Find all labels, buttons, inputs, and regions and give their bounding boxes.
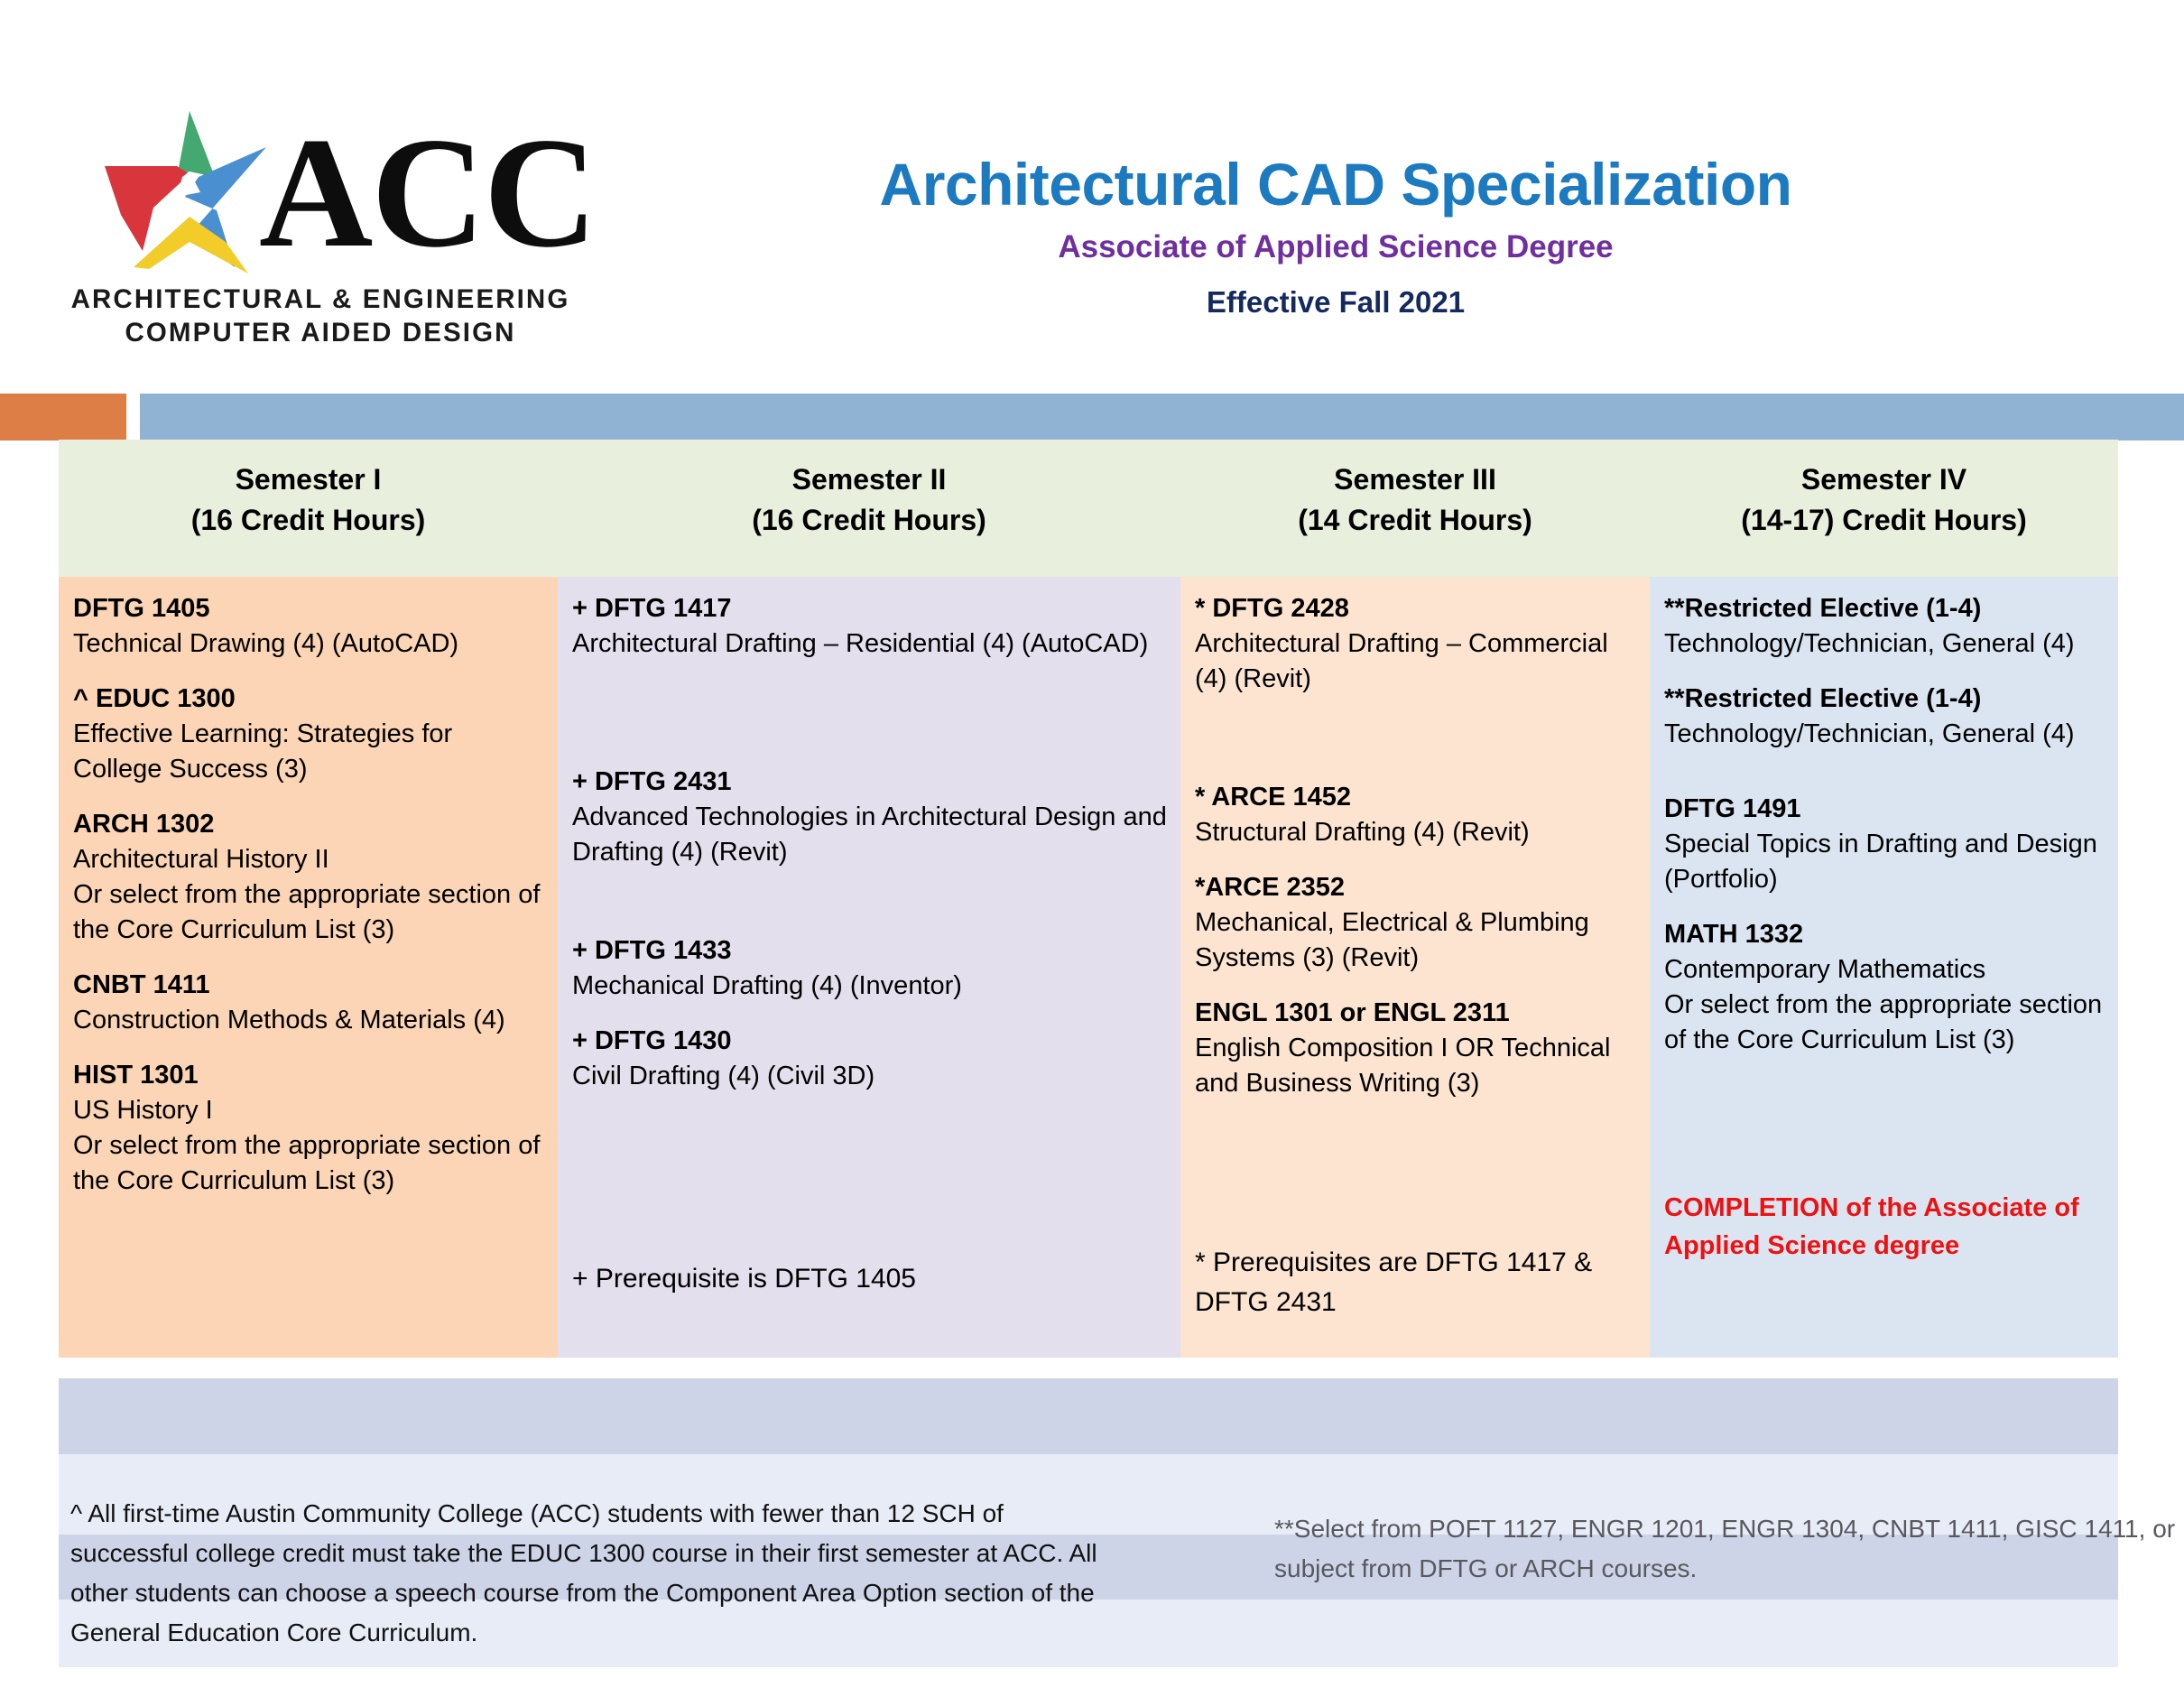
orange-accent-bar — [0, 394, 126, 441]
semester-name: Semester IV — [1801, 459, 1967, 500]
acc-tagline-line1: ARCHITECTURAL & ENGINEERING — [50, 284, 591, 315]
spacer — [73, 1038, 545, 1058]
spacer — [1195, 697, 1637, 760]
course-desc: Structural Drafting (4) (Revit) — [1195, 815, 1637, 850]
spacer — [1664, 752, 2105, 792]
course-entry: ^ EDUC 1300 Effective Learning: Strategi… — [73, 682, 545, 787]
column-header-semester-4: Semester IV (14-17) Credit Hours) — [1650, 440, 2118, 577]
course-entry: **Restricted Elective (1-4) Technology/T… — [1664, 682, 2105, 752]
course-entry: + DFTG 1430 Civil Drafting (4) (Civil 3D… — [572, 1024, 1168, 1094]
course-code: DFTG 1491 — [1664, 792, 2105, 827]
course-code: ENGL 1301 or ENGL 2311 — [1195, 996, 1637, 1031]
course-code: CNBT 1411 — [73, 968, 545, 1003]
course-code: * DFTG 2428 — [1195, 591, 1637, 626]
course-code: *ARCE 2352 — [1195, 870, 1637, 905]
course-desc: Construction Methods & Materials (4) — [73, 1003, 545, 1038]
column-body-semester-2: + DFTG 1417 Architectural Drafting – Res… — [558, 577, 1180, 1358]
course-desc: Architectural Drafting – Commercial (4) … — [1195, 626, 1637, 697]
column-header-semester-3: Semester III (14 Credit Hours) — [1180, 440, 1650, 577]
semester-name: Semester III — [1334, 459, 1496, 500]
course-entry: ENGL 1301 or ENGL 2311 English Compositi… — [1195, 996, 1637, 1101]
spacer — [73, 948, 545, 968]
spacer — [1195, 976, 1637, 996]
column-body-semester-1: DFTG 1405 Technical Drawing (4) (AutoCAD… — [59, 577, 558, 1358]
semester-hours: (14-17) Credit Hours) — [1741, 500, 2027, 541]
semester-hours: (14 Credit Hours) — [1298, 500, 1532, 541]
course-code: + DFTG 1417 — [572, 591, 1168, 626]
column-body-semester-4: **Restricted Elective (1-4) Technology/T… — [1650, 577, 2118, 1358]
semester-name: Semester II — [792, 459, 947, 500]
column-header-semester-2: Semester II (16 Credit Hours) — [558, 440, 1180, 577]
course-desc: Mechanical Drafting (4) (Inventor) — [572, 969, 1168, 1004]
course-desc: Mechanical, Electrical & Plumbing System… — [1195, 905, 1637, 976]
footnote-restricted-elective: **Select from POFT 1127, ENGR 1201, ENGR… — [1274, 1509, 2177, 1589]
page-header: ACC ARCHITECTURAL & ENGINEERING COMPUTER… — [0, 0, 2184, 379]
course-desc: Technology/Technician, General (4) — [1664, 717, 2105, 752]
completion-note: COMPLETION of the Associate of Applied S… — [1664, 1189, 2086, 1265]
course-desc: Effective Learning: Strategies for Colle… — [73, 717, 545, 787]
prerequisite-note-semester-3: * Prerequisites are DFTG 1417 & DFTG 243… — [1195, 1243, 1636, 1322]
semester-hours: (16 Credit Hours) — [191, 500, 426, 541]
column-body-semester-3: * DFTG 2428 Architectural Drafting – Com… — [1180, 577, 1650, 1358]
spacer — [1664, 662, 2105, 682]
course-entry: *ARCE 2352 Mechanical, Electrical & Plum… — [1195, 870, 1637, 976]
course-entry: ARCH 1302 Architectural History IIOr sel… — [73, 807, 545, 948]
course-code: ARCH 1302 — [73, 807, 545, 842]
spacer — [73, 662, 545, 682]
course-entry: * ARCE 1452 Structural Drafting (4) (Rev… — [1195, 780, 1637, 850]
acc-acronym: ACC — [259, 114, 596, 272]
semester-name: Semester I — [236, 459, 382, 500]
spacer — [73, 787, 545, 807]
course-code: * ARCE 1452 — [1195, 780, 1637, 815]
page-subtitle: Associate of Applied Science Degree — [632, 229, 2040, 265]
course-entry: + DFTG 1433 Mechanical Drafting (4) (Inv… — [572, 933, 1168, 1004]
spacer — [572, 725, 1168, 765]
acc-logo: ACC ARCHITECTURAL & ENGINEERING COMPUTER… — [50, 107, 591, 341]
spacer — [1195, 760, 1637, 780]
course-entry: * DFTG 2428 Architectural Drafting – Com… — [1195, 591, 1637, 697]
course-code: + DFTG 1433 — [572, 933, 1168, 969]
course-entry: HIST 1301 US History IOr select from the… — [73, 1058, 545, 1199]
course-desc: Advanced Technologies in Architectural D… — [572, 800, 1168, 870]
blue-accent-bar — [140, 394, 2184, 441]
course-desc: Architectural Drafting – Residential (4)… — [572, 626, 1168, 662]
course-entry: DFTG 1405 Technical Drawing (4) (AutoCAD… — [73, 591, 545, 662]
course-code: DFTG 1405 — [73, 591, 545, 626]
course-code: MATH 1332 — [1664, 917, 2105, 952]
course-code: **Restricted Elective (1-4) — [1664, 591, 2105, 626]
title-block: Architectural CAD Specialization Associa… — [632, 0, 2040, 320]
footnote-educ-requirement: ^ All first-time Austin Community Colleg… — [70, 1494, 1108, 1653]
course-entry: CNBT 1411 Construction Methods & Materia… — [73, 968, 545, 1038]
spacer — [572, 1004, 1168, 1024]
bottom-band-dark — [59, 1378, 2118, 1454]
course-desc: Technical Drawing (4) (AutoCAD) — [73, 626, 545, 662]
table-body-row: DFTG 1405 Technical Drawing (4) (AutoCAD… — [59, 577, 2118, 1358]
prerequisite-note-semester-2: + Prerequisite is DFTG 1405 — [572, 1259, 1158, 1299]
course-code: HIST 1301 — [73, 1058, 545, 1093]
course-entry: MATH 1332 Contemporary MathematicsOr sel… — [1664, 917, 2105, 1058]
spacer — [1195, 850, 1637, 870]
course-code: + DFTG 2431 — [572, 765, 1168, 800]
semester-hours: (16 Credit Hours) — [752, 500, 986, 541]
spacer — [572, 870, 1168, 933]
course-desc: Civil Drafting (4) (Civil 3D) — [572, 1059, 1168, 1094]
acc-tagline-line2: COMPUTER AIDED DESIGN — [50, 318, 591, 348]
column-header-semester-1: Semester I (16 Credit Hours) — [59, 440, 558, 577]
spacer — [1664, 897, 2105, 917]
degree-plan-table: Semester I (16 Credit Hours) Semester II… — [59, 440, 2118, 1358]
course-entry: + DFTG 1417 Architectural Drafting – Res… — [572, 591, 1168, 662]
course-desc: Architectural History IIOr select from t… — [73, 842, 545, 948]
course-entry: + DFTG 2431 Advanced Technologies in Arc… — [572, 765, 1168, 870]
course-desc: US History IOr select from the appropria… — [73, 1093, 545, 1199]
course-entry: **Restricted Elective (1-4) Technology/T… — [1664, 591, 2105, 662]
course-desc: Technology/Technician, General (4) — [1664, 626, 2105, 662]
course-code: **Restricted Elective (1-4) — [1664, 682, 2105, 717]
acc-star-icon — [99, 107, 271, 278]
page-title: Architectural CAD Specialization — [632, 152, 2040, 217]
course-entry: DFTG 1491 Special Topics in Drafting and… — [1664, 792, 2105, 897]
spacer — [572, 662, 1168, 725]
table-header-row: Semester I (16 Credit Hours) Semester II… — [59, 440, 2118, 577]
course-desc: Contemporary MathematicsOr select from t… — [1664, 952, 2105, 1058]
effective-date: Effective Fall 2021 — [632, 285, 2040, 320]
course-code: ^ EDUC 1300 — [73, 682, 545, 717]
course-desc: Special Topics in Drafting and Design (P… — [1664, 827, 2105, 897]
course-code: + DFTG 1430 — [572, 1024, 1168, 1059]
course-desc: English Composition I OR Technical and B… — [1195, 1031, 1637, 1101]
